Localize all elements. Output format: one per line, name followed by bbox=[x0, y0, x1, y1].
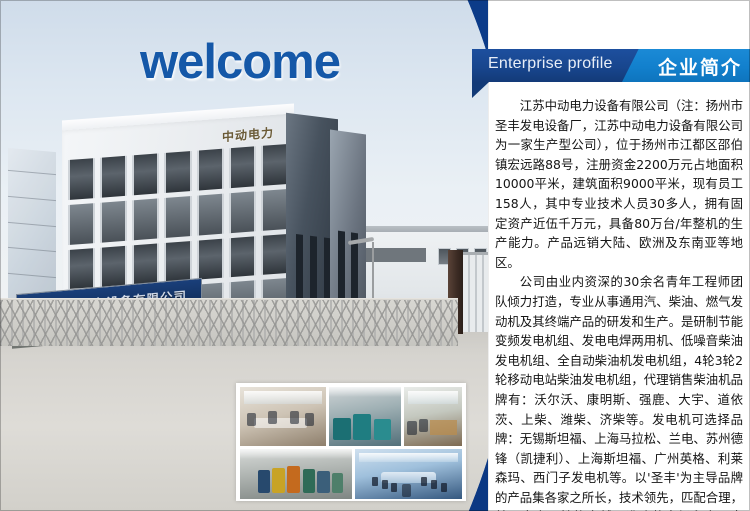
profile-paragraph-2: 公司由业内资深的30余名青年工程师团队倾力打造，专业从事通用汽、柴油、燃气发动机… bbox=[495, 272, 743, 511]
retractable-gate-fence bbox=[0, 300, 458, 346]
glass-annex-building bbox=[8, 148, 56, 312]
profile-body-text: 江苏中动电力设备有限公司（注：扬州市圣丰发电设备厂，江苏中动电力设备有限公司为一… bbox=[495, 96, 743, 511]
generator-sets-photo bbox=[329, 387, 401, 446]
workshop-photo bbox=[240, 449, 352, 499]
meeting-room-photo bbox=[240, 387, 326, 446]
welcome-heading: welcome bbox=[140, 34, 340, 90]
banner-chinese-label: 企业简介 bbox=[658, 53, 742, 80]
street-lamp bbox=[372, 242, 374, 304]
office-area-photo bbox=[404, 387, 462, 446]
profile-paragraph-1: 江苏中动电力设备有限公司（注：扬州市圣丰发电设备厂，江苏中动电力设备有限公司为一… bbox=[495, 96, 743, 272]
boardroom-photo bbox=[355, 449, 462, 499]
enterprise-profile-page: 中动电力 江苏中动电力设备有限公司 Jiangsu Zhongdong Powe… bbox=[0, 0, 750, 511]
photo-collage bbox=[236, 383, 466, 501]
section-banner: Enterprise profile 企业简介 bbox=[472, 49, 750, 82]
banner-english-label: Enterprise profile bbox=[488, 55, 613, 73]
